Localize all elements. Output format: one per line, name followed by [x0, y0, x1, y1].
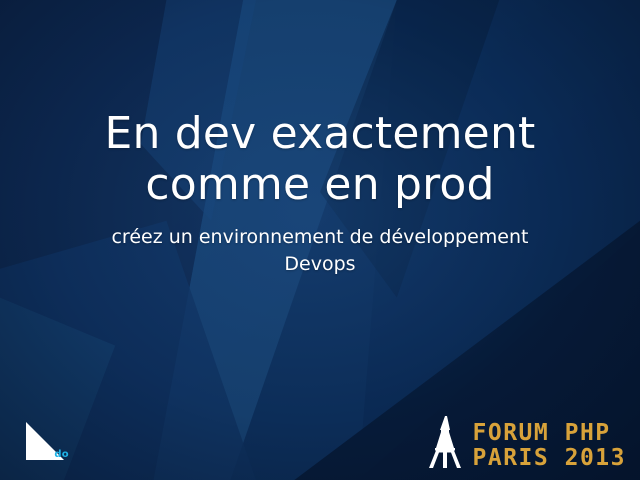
theodo-logo: Theodo	[18, 414, 88, 466]
forum-php-text: FORUM PHP PARIS 2013	[473, 422, 626, 470]
slide-subtitle-line-1: créez un environnement de développement	[111, 226, 528, 248]
theodo-logo-text-main: Theo	[26, 449, 54, 460]
slide-title: En dev exactement comme en prod	[28, 108, 612, 210]
forum-php-badge: FORUM PHP PARIS 2013	[423, 414, 626, 470]
slide-title-line-1: En dev exactement	[105, 108, 536, 159]
forum-php-line-1: FORUM PHP	[473, 422, 626, 445]
slide-content: En dev exactement comme en prod créez un…	[0, 108, 640, 277]
theodo-logo-text: Theodo	[26, 449, 69, 460]
slide-title-line-2: comme en prod	[145, 159, 494, 210]
theodo-logo-text-accent: do	[54, 449, 68, 460]
slide-subtitle-line-2: Devops	[284, 253, 355, 275]
forum-php-line-2: PARIS 2013	[473, 447, 626, 470]
slide-subtitle: créez un environnement de développement …	[28, 224, 612, 277]
eiffel-tower-icon	[423, 414, 467, 470]
presentation-slide: En dev exactement comme en prod créez un…	[0, 0, 640, 480]
